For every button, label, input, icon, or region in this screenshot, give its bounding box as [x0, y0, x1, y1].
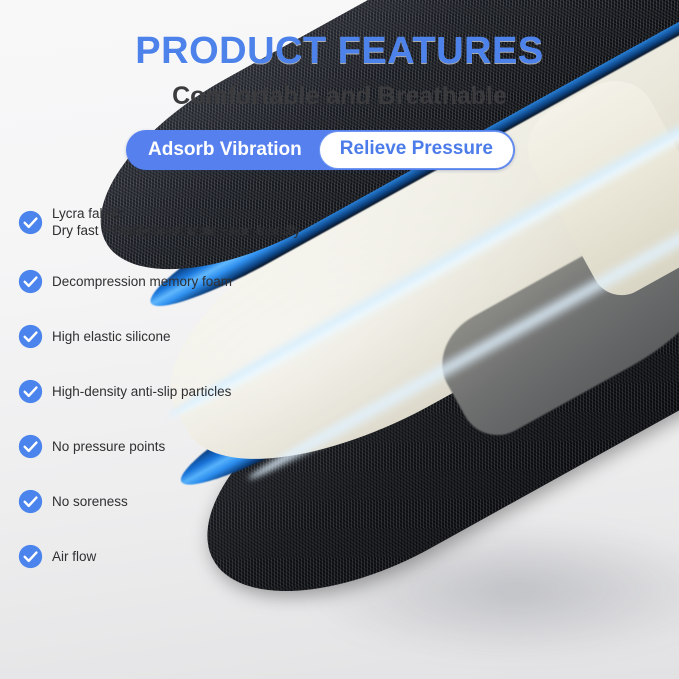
product-features-infographic: PRODUCT FEATURES Comfortable and Breatha… — [0, 0, 679, 679]
list-item-label: Air flow — [52, 549, 96, 565]
check-circle-icon — [18, 434, 43, 459]
feature-list: Lycra fabric: Dry fast + highly breathab… — [18, 206, 368, 569]
list-item: Lycra fabric: Dry fast + highly breathab… — [18, 206, 368, 239]
check-circle-icon — [18, 489, 43, 514]
list-item-label: Lycra fabric: Dry fast + highly breathab… — [52, 206, 300, 239]
list-item-label: High elastic silicone — [52, 329, 171, 345]
toggle-option-adsorb-vibration[interactable]: Adsorb Vibration — [126, 130, 319, 170]
feature-toggle-group[interactable]: Adsorb Vibration Relieve Pressure — [126, 130, 515, 170]
list-item-label: No pressure points — [52, 439, 165, 455]
list-item: No soreness — [18, 489, 368, 514]
list-item-label: No soreness — [52, 494, 128, 510]
toggle-option-relieve-pressure[interactable]: Relieve Pressure — [319, 131, 514, 169]
check-circle-icon — [18, 379, 43, 404]
list-item: Decompression memory foam — [18, 269, 368, 294]
check-circle-icon — [18, 210, 43, 235]
page-title: PRODUCT FEATURES — [0, 30, 679, 73]
check-circle-icon — [18, 544, 43, 569]
list-item: High elastic silicone — [18, 324, 368, 349]
list-item-label: Decompression memory foam — [52, 274, 232, 290]
text-overlay: PRODUCT FEATURES Comfortable and Breatha… — [0, 0, 679, 679]
list-item-label: High-density anti-slip particles — [52, 384, 231, 400]
check-circle-icon — [18, 324, 43, 349]
list-item: Air flow — [18, 544, 368, 569]
page-subtitle: Comfortable and Breathable — [0, 82, 679, 111]
list-item: High-density anti-slip particles — [18, 379, 368, 404]
check-circle-icon — [18, 269, 43, 294]
list-item: No pressure points — [18, 434, 368, 459]
